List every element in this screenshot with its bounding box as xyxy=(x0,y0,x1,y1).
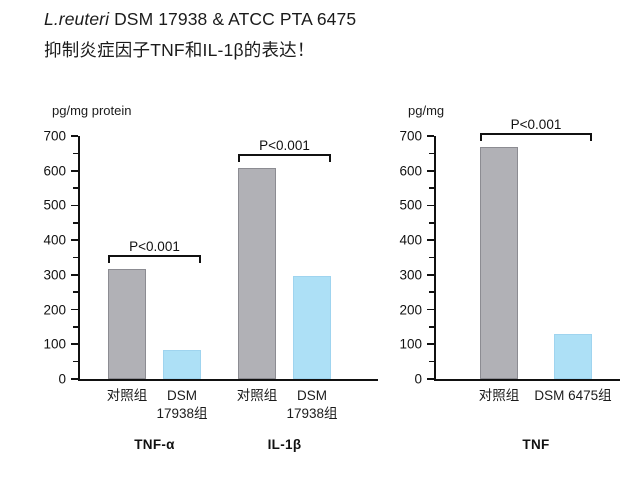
y-tick-label: 400 xyxy=(382,233,422,248)
x-axis-line xyxy=(78,379,378,381)
y-tick-label: 100 xyxy=(382,337,422,352)
pvalue-text: P<0.001 xyxy=(508,117,565,132)
heading-line-1: L.reuteri DSM 17938 & ATCC PTA 6475 xyxy=(44,6,624,32)
species-name: L.reuteri xyxy=(44,9,109,29)
bracket-line xyxy=(480,133,592,135)
chart-right-plot: 0100200300400500600700对照组DSM 6475组P<0.00… xyxy=(434,136,620,379)
chart-right: pg/mg 0100200300400500600700对照组DSM 6475组… xyxy=(390,95,640,477)
y-tick-major xyxy=(71,135,78,137)
y-tick-minor xyxy=(73,257,78,259)
heading-line-1-rest: DSM 17938 & ATCC PTA 6475 xyxy=(109,9,356,29)
pvalue-text: P<0.001 xyxy=(126,239,183,254)
y-tick-minor xyxy=(73,326,78,328)
y-tick-major xyxy=(427,239,434,241)
y-tick-minor xyxy=(429,153,434,155)
y-tick-major xyxy=(71,274,78,276)
pvalue-text: P<0.001 xyxy=(256,138,313,153)
y-tick-label: 200 xyxy=(26,302,66,317)
y-tick-major xyxy=(71,378,78,380)
y-tick-major xyxy=(427,343,434,345)
y-tick-minor xyxy=(73,153,78,155)
x-label-line1: DSM xyxy=(167,388,197,403)
x-label-line1: DSM xyxy=(297,388,327,403)
y-tick-major xyxy=(71,205,78,207)
y-tick-minor xyxy=(429,361,434,363)
bracket-leg-right xyxy=(199,255,201,263)
y-tick-major xyxy=(427,378,434,380)
y-tick-label: 700 xyxy=(26,129,66,144)
y-tick-label: 400 xyxy=(26,233,66,248)
bracket-leg-left xyxy=(238,154,240,162)
y-tick-major xyxy=(71,239,78,241)
y-tick-minor xyxy=(429,257,434,259)
y-tick-label: 500 xyxy=(26,198,66,213)
y-axis-line xyxy=(434,136,436,379)
x-label-line2: 17938组 xyxy=(156,406,207,421)
x-axis-line xyxy=(434,379,620,381)
figure-root: L.reuteri DSM 17938 & ATCC PTA 6475 抑制炎症… xyxy=(0,0,640,477)
group-label: IL-1β xyxy=(215,437,355,452)
y-tick-label: 200 xyxy=(382,302,422,317)
bracket-line xyxy=(238,154,331,156)
y-tick-label: 600 xyxy=(26,163,66,178)
bracket-leg-left xyxy=(108,255,110,263)
y-tick-major xyxy=(427,135,434,137)
bracket-line xyxy=(108,255,201,257)
y-tick-label: 300 xyxy=(26,267,66,282)
chart-left-y-unit: pg/mg protein xyxy=(52,103,132,118)
chart-right-y-unit: pg/mg xyxy=(408,103,444,118)
bracket-leg-right xyxy=(329,154,331,162)
y-tick-label: 0 xyxy=(26,372,66,387)
group-label: TNF-α xyxy=(85,437,225,452)
bar-gray-317 xyxy=(108,269,146,379)
y-tick-major xyxy=(427,170,434,172)
bracket-leg-right xyxy=(590,133,592,141)
y-tick-minor xyxy=(73,291,78,293)
chart-left-plot: 0100200300400500600700对照组DSM17938组对照组DSM… xyxy=(78,136,378,379)
group-label: TNF xyxy=(466,437,606,452)
y-tick-major xyxy=(427,309,434,311)
heading-line-2: 抑制炎症因子TNF和IL-1β的表达！ xyxy=(44,37,624,63)
y-tick-major xyxy=(71,343,78,345)
y-tick-minor xyxy=(429,326,434,328)
x-label-line1: DSM 6475组 xyxy=(534,388,611,403)
y-tick-minor xyxy=(429,187,434,189)
x-axis-label: DSM 6475组 xyxy=(528,387,618,405)
y-tick-label: 500 xyxy=(382,198,422,213)
y-tick-minor xyxy=(73,222,78,224)
x-axis-label: DSM17938组 xyxy=(267,387,357,423)
bar-gray-668 xyxy=(480,147,518,379)
x-label-line1: 对照组 xyxy=(479,388,520,403)
y-tick-label: 0 xyxy=(382,372,422,387)
y-tick-label: 300 xyxy=(382,267,422,282)
figure-heading: L.reuteri DSM 17938 & ATCC PTA 6475 抑制炎症… xyxy=(44,6,624,63)
y-tick-minor xyxy=(429,222,434,224)
chart-left: pg/mg protein 0100200300400500600700对照组D… xyxy=(0,95,390,477)
x-label-line2: 17938组 xyxy=(286,406,337,421)
y-tick-label: 600 xyxy=(382,163,422,178)
y-tick-minor xyxy=(429,291,434,293)
y-tick-major xyxy=(427,274,434,276)
y-tick-minor xyxy=(73,187,78,189)
bar-blue-84 xyxy=(163,350,201,379)
y-tick-major xyxy=(71,309,78,311)
bracket-leg-left xyxy=(480,133,482,141)
bar-gray-608 xyxy=(238,168,276,379)
y-tick-major xyxy=(71,170,78,172)
y-axis-line xyxy=(78,136,80,379)
y-tick-minor xyxy=(73,361,78,363)
bar-blue-131 xyxy=(554,334,592,379)
y-tick-major xyxy=(427,205,434,207)
y-tick-label: 100 xyxy=(26,337,66,352)
y-tick-label: 700 xyxy=(382,129,422,144)
bar-blue-298 xyxy=(293,276,331,379)
